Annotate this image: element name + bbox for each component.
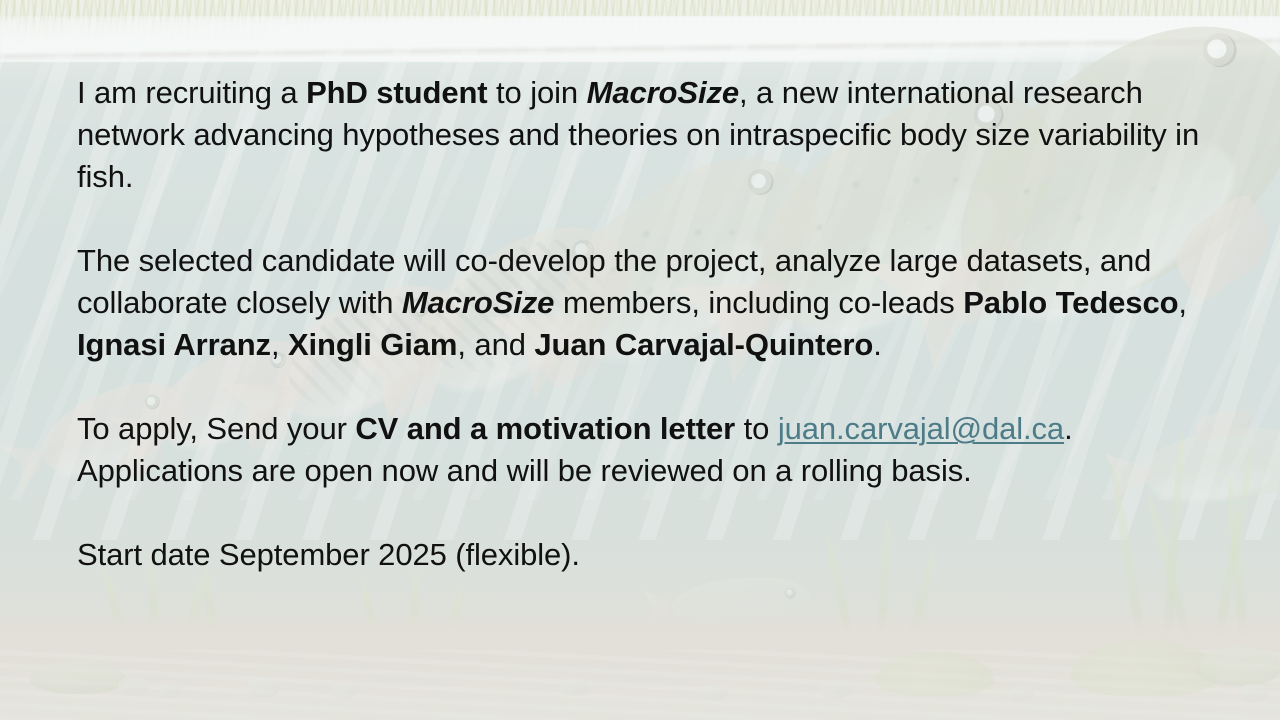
text-run-bold: CV and a motivation letter (355, 411, 735, 446)
paragraph-how-to-apply: To apply, Send your CV and a motivation … (77, 408, 1207, 492)
text-run: . (873, 327, 882, 362)
text-run: members, including co-leads (554, 285, 963, 320)
email-link[interactable]: juan.carvajal@dal.ca (778, 411, 1064, 446)
text-run: to join (488, 75, 587, 110)
text-run: , (1178, 285, 1187, 320)
text-run-project-name: MacroSize (587, 75, 739, 110)
text-run-coleads-name: Juan Carvajal-Quintero (534, 327, 873, 362)
text-run: I am recruiting a (77, 75, 306, 110)
paragraph-candidate-role: The selected candidate will co-develop t… (77, 240, 1207, 366)
text-run-coleads-name: Xingli Giam (288, 327, 457, 362)
text-run-bold: PhD student (306, 75, 487, 110)
text-run: , (271, 327, 288, 362)
slide-canvas: I am recruiting a PhD student to join Ma… (0, 0, 1280, 720)
paragraph-recruiting: I am recruiting a PhD student to join Ma… (77, 72, 1207, 198)
paragraph-start-date: Start date September 2025 (flexible). (77, 534, 1207, 576)
text-run: Start date September 2025 (flexible). (77, 537, 580, 572)
text-run: To apply, Send your (77, 411, 355, 446)
announcement-text-block: I am recruiting a PhD student to join Ma… (77, 72, 1207, 576)
text-run-coleads-name: Ignasi Arranz (77, 327, 271, 362)
text-run: , and (457, 327, 534, 362)
text-run-project-name: MacroSize (402, 285, 554, 320)
text-run: to (735, 411, 778, 446)
text-run-coleads-name: Pablo Tedesco (963, 285, 1178, 320)
